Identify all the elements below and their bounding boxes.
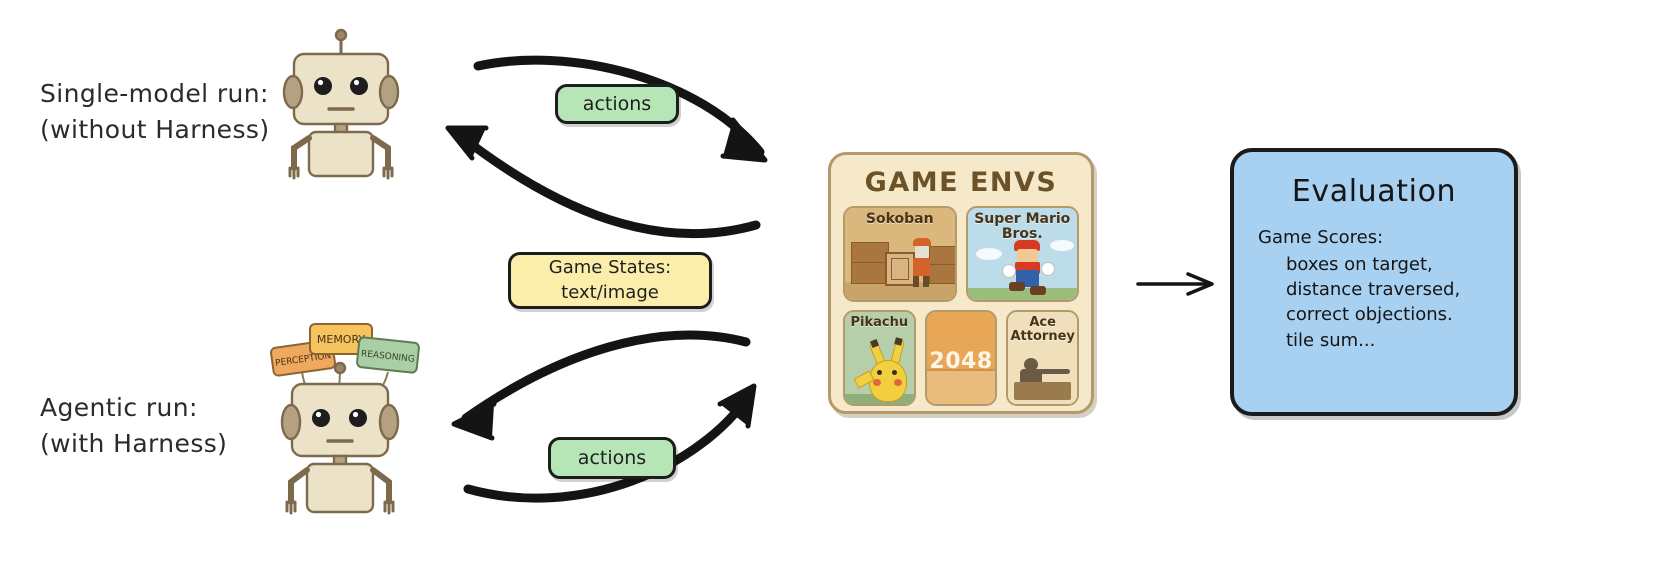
- arrow-states-bottom: [466, 335, 746, 418]
- game-tile-ace-attorney[interactable]: Ace Attorney: [1006, 310, 1079, 406]
- game-envs-row-1: Sokoban Super Mario Bros.: [843, 206, 1079, 302]
- arrow-states-top: [458, 134, 756, 234]
- sokoban-worker-leg: [913, 276, 919, 287]
- game-tile-pikachu-label: Pikachu: [845, 316, 914, 330]
- game-tile-ace-attorney-label: Ace Attorney: [1008, 316, 1077, 343]
- mario-hand: [1002, 264, 1016, 278]
- mario-face: [1017, 249, 1038, 263]
- evaluation-card: Evaluation Game Scores: boxes on target,…: [1230, 148, 1518, 416]
- sokoban-box: [885, 252, 915, 286]
- label-agentic-run: Agentic run: (with Harness): [40, 390, 227, 463]
- evaluation-score-item: tile sum...: [1286, 328, 1496, 353]
- actions-label-top: actions: [555, 84, 679, 124]
- game-tile-sokoban-label: Sokoban: [845, 212, 955, 227]
- pikachu-eye: [892, 370, 897, 375]
- pikachu-eye: [877, 370, 882, 375]
- actions-bottom-text: actions: [578, 447, 646, 469]
- ace-attorney-desk: [1014, 382, 1071, 400]
- game-tile-pikachu[interactable]: Pikachu: [843, 310, 916, 406]
- sokoban-wall: [851, 242, 889, 264]
- sokoban-wall: [851, 262, 889, 284]
- evaluation-heading: Game Scores:: [1258, 227, 1496, 248]
- evaluation-score-item: boxes on target,: [1286, 252, 1496, 277]
- mario-shoe: [1009, 282, 1025, 291]
- harness-tag-reasoning: REASONING: [357, 337, 420, 373]
- robot-single-model-icon: [276, 26, 406, 186]
- game-2048-lower-tile: [927, 369, 996, 404]
- game-envs-title: GAME ENVS: [843, 167, 1079, 198]
- ace-attorney-pointing-arm: [1038, 369, 1070, 374]
- game-states-label: Game States: text/image: [508, 252, 712, 309]
- game-tile-2048[interactable]: 2048: [925, 310, 998, 406]
- game-2048-tile-value: 2048: [927, 349, 996, 374]
- mario-shoe: [1030, 286, 1046, 295]
- pikachu-cheek: [894, 379, 902, 386]
- sokoban-worker-head: [915, 246, 929, 258]
- game-tile-sokoban[interactable]: Sokoban: [843, 206, 957, 302]
- diagram-canvas: Single-model run: (without Harness) Agen…: [0, 0, 1680, 579]
- game-envs-card: GAME ENVS Sokoban: [828, 152, 1094, 414]
- robot-agentic-icon: PERCEPTION MEMORY REASONING: [262, 310, 420, 525]
- game-envs-row-2: Pikachu 2048 Ace Attorney: [843, 310, 1079, 406]
- sokoban-worker-hat: [913, 238, 931, 246]
- evaluation-title: Evaluation: [1252, 174, 1496, 209]
- mario-hand: [1041, 262, 1055, 276]
- sokoban-worker-leg: [923, 276, 929, 287]
- evaluation-score-item: distance traversed,: [1286, 277, 1496, 302]
- evaluation-score-list: boxes on target, distance traversed, cor…: [1252, 252, 1496, 353]
- sokoban-wall: [929, 246, 957, 266]
- game-tile-super-mario-bros[interactable]: Super Mario Bros.: [966, 206, 1080, 302]
- evaluation-score-item: correct objections.: [1286, 302, 1496, 327]
- sokoban-worker-body: [913, 258, 930, 276]
- sokoban-wall: [929, 264, 957, 284]
- mario-cloud: [1050, 240, 1074, 251]
- label-single-model-run: Single-model run: (without Harness): [40, 76, 269, 149]
- actions-label-bottom: actions: [548, 437, 676, 479]
- game-states-line1: Game States:: [549, 256, 671, 280]
- arrow-envs-to-evaluation: [1138, 274, 1212, 294]
- actions-top-text: actions: [583, 93, 651, 115]
- game-tile-super-mario-bros-label: Super Mario Bros.: [968, 212, 1078, 241]
- mario-cloud: [976, 248, 1002, 260]
- game-states-line2: text/image: [549, 281, 671, 305]
